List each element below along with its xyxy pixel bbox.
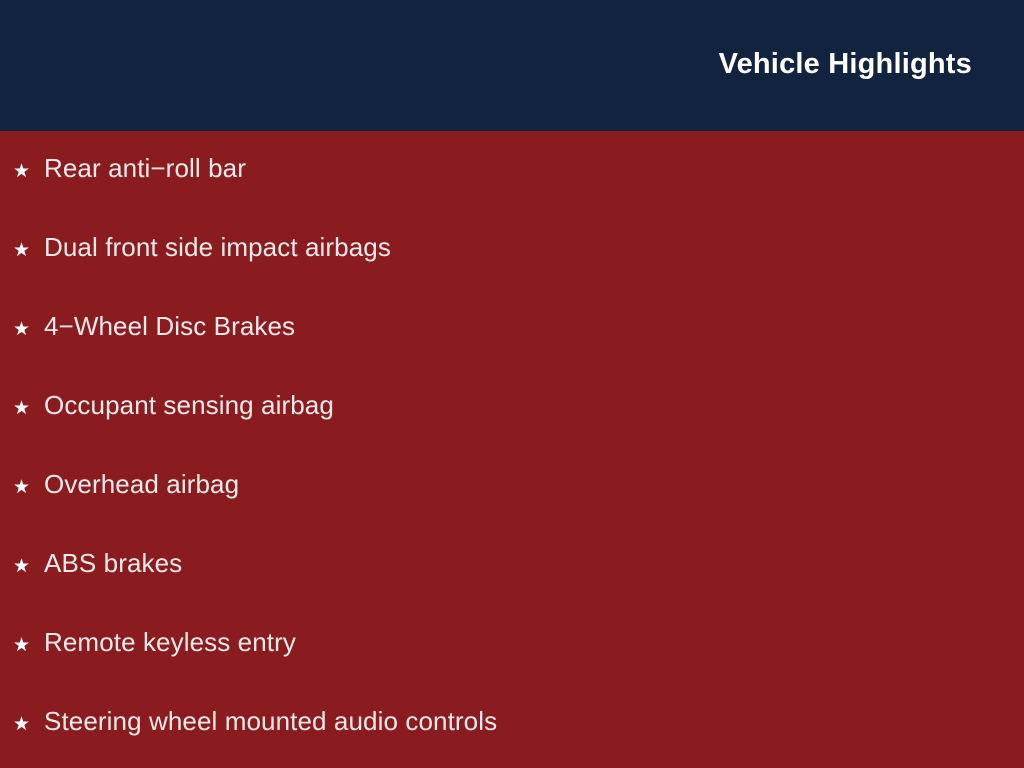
list-item: ★ ABS brakes bbox=[0, 548, 1024, 627]
star-icon: ★ bbox=[13, 315, 44, 345]
list-item: ★ Steering wheel mounted audio controls bbox=[0, 706, 1024, 768]
highlights-list: ★ Rear anti−roll bar ★ Dual front side i… bbox=[0, 131, 1024, 768]
star-icon: ★ bbox=[13, 552, 44, 582]
star-icon: ★ bbox=[13, 631, 44, 661]
list-item-label: ABS brakes bbox=[44, 548, 1024, 578]
list-item-label: Rear anti−roll bar bbox=[44, 153, 1024, 183]
page-title: Vehicle Highlights bbox=[719, 45, 972, 83]
list-item-label: Overhead airbag bbox=[44, 469, 1024, 499]
star-icon: ★ bbox=[13, 394, 44, 424]
list-item: ★ Dual front side impact airbags bbox=[0, 232, 1024, 311]
list-item-label: Dual front side impact airbags bbox=[44, 232, 1024, 262]
star-icon: ★ bbox=[13, 236, 44, 266]
list-item-label: Remote keyless entry bbox=[44, 627, 1024, 657]
list-item: ★ Rear anti−roll bar bbox=[0, 153, 1024, 232]
star-icon: ★ bbox=[13, 710, 44, 740]
list-item: ★ Occupant sensing airbag bbox=[0, 390, 1024, 469]
list-item-label: 4−Wheel Disc Brakes bbox=[44, 311, 1024, 341]
list-item: ★ Remote keyless entry bbox=[0, 627, 1024, 706]
list-item: ★ Overhead airbag bbox=[0, 469, 1024, 548]
header-band: Vehicle Highlights bbox=[0, 0, 1024, 131]
slide-root: Vehicle Highlights ★ Rear anti−roll bar … bbox=[0, 0, 1024, 768]
star-icon: ★ bbox=[13, 473, 44, 503]
list-item-label: Steering wheel mounted audio controls bbox=[44, 706, 1024, 736]
star-icon: ★ bbox=[13, 157, 44, 187]
list-item-label: Occupant sensing airbag bbox=[44, 390, 1024, 420]
list-item: ★ 4−Wheel Disc Brakes bbox=[0, 311, 1024, 390]
highlights-body: ★ Rear anti−roll bar ★ Dual front side i… bbox=[0, 131, 1024, 768]
